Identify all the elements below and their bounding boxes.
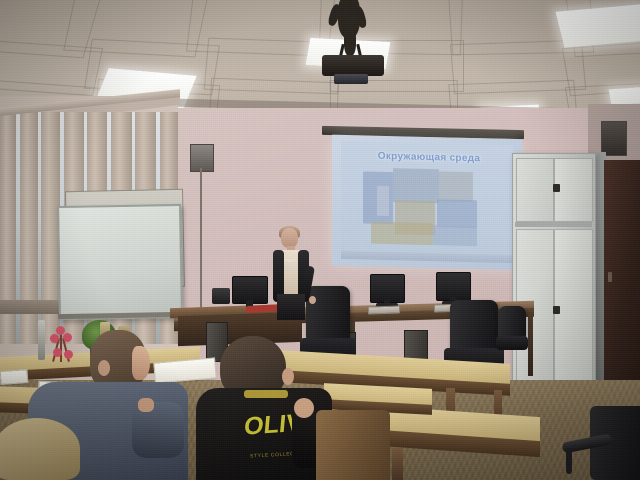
projection-screen: Окружающая среда <box>332 135 522 271</box>
paper-sheet <box>0 369 28 385</box>
ceiling-projector <box>300 0 410 86</box>
keyboard[interactable] <box>368 305 400 314</box>
projected-slide: Окружающая среда <box>341 141 513 263</box>
foreground-chair[interactable] <box>560 406 640 480</box>
slide-title: Окружающая среда <box>351 150 507 165</box>
cabinet-door-upper-left[interactable] <box>516 158 554 222</box>
student-face <box>132 346 150 380</box>
presenter-necklace <box>284 253 296 262</box>
ceiling-light <box>556 4 640 48</box>
student-ear <box>282 368 294 385</box>
speaker-cable <box>200 168 202 308</box>
student-black-hoodie: OLIV STYLE COLLECTION <box>196 336 332 480</box>
student-ear <box>98 360 110 376</box>
cabinet-handle-lower[interactable] <box>553 306 560 314</box>
cabinet-handle-upper[interactable] <box>553 184 560 192</box>
student-blond-head <box>0 418 80 480</box>
ceiling-light <box>609 87 640 106</box>
whiteboard[interactable] <box>57 204 183 320</box>
desk-leg <box>392 448 403 480</box>
door-handle[interactable] <box>608 272 612 282</box>
hoodie-collar <box>244 390 288 398</box>
student-hand <box>138 398 154 412</box>
slide-image-collage <box>363 167 491 248</box>
office-chair[interactable] <box>496 306 530 366</box>
presenter-hand <box>309 296 316 304</box>
presenter-skirt <box>277 294 305 320</box>
student-head <box>0 418 80 480</box>
desk-equipment <box>212 288 230 304</box>
projector-body <box>322 55 384 76</box>
wall-speaker <box>190 144 214 172</box>
chair-back[interactable] <box>316 410 390 480</box>
wall-speaker <box>601 121 627 156</box>
classroom-photo: Окружающая среда <box>0 0 640 480</box>
chair-arm-post <box>566 448 572 474</box>
projector-lens <box>334 74 368 84</box>
student-hand <box>294 398 314 418</box>
presenter-head <box>281 228 298 248</box>
presenter <box>262 228 320 320</box>
